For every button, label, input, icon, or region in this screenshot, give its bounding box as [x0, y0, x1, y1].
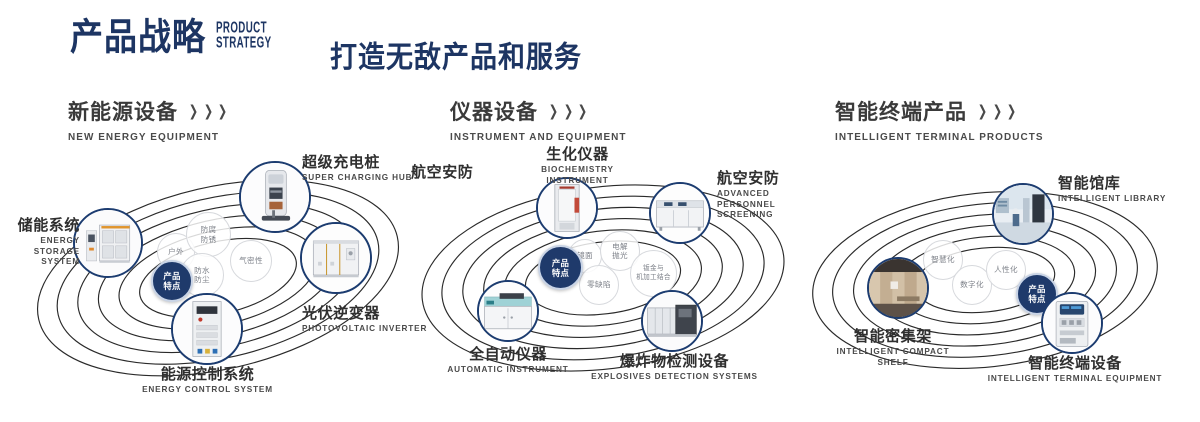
caption-explosives-detection: 爆炸物检测设备 EXPLOSIVES DETECTION SYSTEMS — [587, 353, 762, 383]
feature-bubble-label-3: 气密性 — [239, 256, 263, 265]
node-intelligent-library[interactable] — [992, 183, 1054, 245]
caption-en-energy-control: ENERGY CONTROL SYSTEM — [120, 385, 295, 395]
caption-cn-energy-control: 能源控制系统 — [120, 366, 295, 383]
node-biochemistry[interactable] — [536, 177, 598, 239]
feature-bubble-center-label: 产品 特点 — [552, 258, 569, 278]
caption-cn-intelligent-terminal: 智能终端设备 — [980, 355, 1170, 372]
caption-intelligent-terminal: 智能终端设备 INTELLIGENT TERMINAL EQUIPMENT — [980, 355, 1170, 385]
caption-en-automatic-instrument: AUTOMATIC INSTRUMENT — [423, 365, 593, 375]
caption-en-intelligent-library: INTELLIGENT LIBRARY — [1058, 194, 1166, 204]
section-header-instrument: 仪器设备 ❯❯❯ INSTRUMENT AND EQUIPMENT — [450, 96, 636, 143]
feature-bubble-label-0: 智慧化 — [931, 255, 955, 264]
caption-en-charging-hub: SUPER CHARGING HUB — [302, 173, 412, 183]
automatic-instrument-photo — [479, 282, 537, 340]
caption-cn-automatic-instrument: 全自动仪器 — [423, 346, 593, 363]
caption-aviation-security-extra: 航空安防 — [411, 164, 473, 181]
caption-en-personnel-screening: ADVANCED PERSONNEL SCREENING — [717, 189, 805, 220]
feature-bubble-label-2: 人性化 — [994, 265, 1018, 274]
feature-bubble-label-1: 防腐 防锈 — [201, 225, 217, 244]
section-title-cn-text-1: 仪器设备 — [450, 96, 538, 126]
section-title-cn-1: 仪器设备 ❯❯❯ — [450, 96, 636, 126]
node-intelligent-terminal[interactable] — [1041, 292, 1103, 354]
caption-cn-intelligent-library: 智能馆库 — [1058, 175, 1166, 192]
caption-biochemistry: 生化仪器 BIOCHEMISTRY INSTRUMENT — [530, 146, 625, 186]
intelligent-library-photo — [994, 185, 1052, 243]
node-pv-inverter[interactable] — [300, 222, 372, 294]
section-title-cn-2: 智能终端产品 ❯❯❯ — [835, 96, 1055, 126]
caption-automatic-instrument: 全自动仪器 AUTOMATIC INSTRUMENT — [423, 346, 593, 376]
caption-en-explosives-detection: EXPLOSIVES DETECTION SYSTEMS — [587, 372, 762, 382]
caption-compact-shelf: 智能密集架 INTELLIGENT COMPACT SHELF — [813, 328, 973, 368]
section-title-cn-text-0: 新能源设备 — [68, 96, 178, 126]
caption-charging-hub: 超级充电桩 SUPER CHARGING HUB — [302, 154, 412, 184]
brand-title-en: PRODUCT STRATEGY — [216, 21, 271, 55]
node-charging-hub[interactable] — [239, 161, 311, 233]
caption-cn-personnel-screening: 航空安防 — [717, 170, 805, 187]
node-compact-shelf[interactable] — [867, 257, 929, 319]
section-header-intelligent: 智能终端产品 ❯❯❯ INTELLIGENT TERMINAL PRODUCTS — [835, 96, 1055, 143]
node-explosives-detection[interactable] — [641, 290, 703, 352]
caption-cn-energy-storage: 储能系统 — [8, 217, 80, 234]
explosives-detection-photo — [643, 292, 701, 350]
cluster-instrument: 镜面 电解 抛光 钣金与 机加工结合 零缺陷 产品 特点 生化仪器 BIOCHE… — [405, 150, 805, 410]
caption-cn-charging-hub: 超级充电桩 — [302, 154, 412, 171]
feature-bubble-label-0: 户外 — [168, 247, 184, 256]
caption-cn-compact-shelf: 智能密集架 — [813, 328, 973, 345]
caption-en-biochemistry: BIOCHEMISTRY INSTRUMENT — [530, 165, 625, 186]
compact-shelf-photo — [869, 259, 927, 317]
section-title-en-2: INTELLIGENT TERMINAL PRODUCTS — [835, 131, 1044, 143]
node-automatic-instrument[interactable] — [477, 280, 539, 342]
page-header: 产品战略 PRODUCT STRATEGY — [70, 22, 287, 55]
section-title-en-0: NEW ENERGY EQUIPMENT — [68, 131, 222, 143]
feature-bubble-label-2: 钣金与 机加工结合 — [636, 265, 670, 281]
cluster-intelligent-terminal: 智慧化 数字化 人性化 产品 特点 智能馆库 INTELLIGENT LIBRA… — [795, 150, 1195, 410]
section-title-en-1: INSTRUMENT AND EQUIPMENT — [450, 131, 627, 143]
cluster-new-energy: 户外 防腐 防锈 防水 防尘 气密性 产品 特点 储能系统 ENERGY STO… — [20, 150, 420, 410]
biochemistry-instrument-photo — [538, 179, 596, 237]
feature-bubble-3[interactable]: 气密性 — [230, 240, 272, 282]
ev-charging-pile-photo — [241, 163, 309, 231]
caption-energy-control: 能源控制系统 ENERGY CONTROL SYSTEM — [120, 366, 295, 396]
feature-bubble-1[interactable]: 防腐 防锈 — [186, 212, 231, 257]
feature-bubble-center-label: 产品 特点 — [163, 271, 180, 291]
caption-en-compact-shelf: INTELLIGENT COMPACT SHELF — [813, 347, 973, 368]
brand-title-cn: 产品战略 — [70, 18, 206, 55]
caption-en-intelligent-terminal: INTELLIGENT TERMINAL EQUIPMENT — [980, 374, 1170, 384]
feature-bubble-center[interactable]: 产品 特点 — [538, 245, 583, 290]
node-energy-control[interactable] — [171, 293, 243, 365]
feature-bubble-label-1: 数字化 — [960, 280, 984, 289]
node-personnel-screening[interactable] — [649, 182, 711, 244]
personnel-screening-photo — [651, 184, 709, 242]
node-energy-storage[interactable] — [73, 208, 143, 278]
caption-cn-biochemistry: 生化仪器 — [530, 146, 625, 163]
feature-bubble-3[interactable]: 零缺陷 — [579, 265, 619, 305]
feature-bubble-label-1: 电解 抛光 — [612, 242, 628, 261]
caption-energy-storage: 储能系统 ENERGY STORAGE SYSTEM — [8, 217, 80, 267]
chevron-right-icon: ❯❯❯ — [187, 104, 230, 119]
caption-en-energy-storage: ENERGY STORAGE SYSTEM — [8, 236, 80, 267]
feature-bubble-label-2: 防水 防尘 — [194, 266, 210, 285]
intelligent-terminal-kiosk-photo — [1043, 294, 1101, 352]
chevron-right-icon: ❯❯❯ — [976, 104, 1019, 119]
feature-bubble-label-3: 零缺陷 — [587, 280, 611, 289]
caption-intelligent-library: 智能馆库 INTELLIGENT LIBRARY — [1058, 175, 1166, 205]
page-headline: 打造无敌产品和服务 — [330, 33, 582, 76]
photovoltaic-inverter-photo — [302, 224, 370, 292]
brand-en-line2: STRATEGY — [216, 36, 271, 50]
chevron-right-icon: ❯❯❯ — [547, 104, 590, 119]
section-title-cn-0: 新能源设备 ❯❯❯ — [68, 96, 230, 126]
section-header-new-energy: 新能源设备 ❯❯❯ NEW ENERGY EQUIPMENT — [68, 96, 230, 143]
caption-cn-explosives-detection: 爆炸物检测设备 — [587, 353, 762, 370]
energy-storage-cabinet-photo — [75, 210, 141, 276]
caption-personnel-screening: 航空安防 ADVANCED PERSONNEL SCREENING — [717, 170, 805, 220]
section-title-cn-text-2: 智能终端产品 — [835, 96, 967, 126]
energy-control-cabinet-photo — [173, 295, 241, 363]
caption-cn-aviation-security-extra: 航空安防 — [411, 164, 473, 181]
